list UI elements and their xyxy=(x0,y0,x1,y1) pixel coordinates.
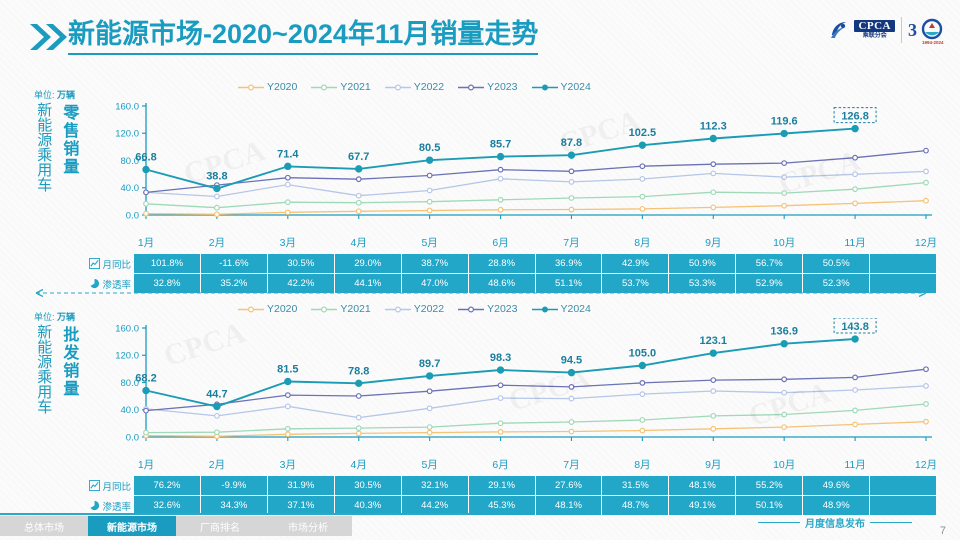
data-point-y2023 xyxy=(782,161,787,166)
table-cell: -9.9% xyxy=(201,476,268,495)
data-point-y2024 xyxy=(356,380,362,386)
cpca-logo-main: CPCA 乘联分会 xyxy=(828,19,895,41)
data-point-y2020 xyxy=(427,430,432,435)
data-point-y2023 xyxy=(356,394,361,399)
x-tick-label: 7月 xyxy=(563,235,579,250)
series-line-y2020 xyxy=(146,422,926,437)
table-cell: 32.1% xyxy=(402,476,469,495)
data-point-y2022 xyxy=(286,182,291,187)
x-tick-label: 4月 xyxy=(351,457,367,472)
legend-label: Y2021 xyxy=(340,303,370,315)
data-point-y2024 xyxy=(852,126,858,132)
legend-item-y2021[interactable]: Y2021 xyxy=(311,81,370,93)
data-label: 94.5 xyxy=(561,355,582,367)
table-cell: 101.8% xyxy=(134,254,201,273)
pie-chart-icon xyxy=(89,500,100,511)
cpca-sub-wordmark: 乘联分会 xyxy=(854,32,895,40)
data-point-y2024 xyxy=(143,166,149,172)
table-row: 月同比76.2%-9.9%31.9%30.5%32.1%29.1%27.6%31… xyxy=(88,476,936,495)
x-tick-label: 4月 xyxy=(351,235,367,250)
data-point-y2021 xyxy=(711,190,716,195)
y-tick-label: 40.0 xyxy=(121,183,140,194)
data-label: 143.8 xyxy=(841,321,869,333)
table-cell: 55.2% xyxy=(736,476,803,495)
data-point-y2023 xyxy=(498,167,503,172)
data-point-y2024 xyxy=(852,336,858,342)
cpca-wordmark: CPCA xyxy=(854,20,895,32)
data-point-y2020 xyxy=(924,198,929,203)
cpca-logo: CPCA 乘联分会 3 1994-2024 xyxy=(828,16,948,44)
data-label: 119.6 xyxy=(771,116,798,128)
table-cell: 76.2% xyxy=(134,476,201,495)
data-point-y2021 xyxy=(924,180,929,185)
x-tick-label: 8月 xyxy=(634,235,650,250)
data-point-y2021 xyxy=(569,196,574,201)
x-tick-label: 3月 xyxy=(280,235,296,250)
x-tick-label: 10月 xyxy=(773,235,795,250)
data-point-y2022 xyxy=(640,177,645,182)
data-point-y2024 xyxy=(639,142,645,148)
data-point-y2021 xyxy=(640,194,645,199)
table-cell xyxy=(870,254,936,273)
data-point-y2024 xyxy=(214,185,220,191)
legend-swatch-y2024 xyxy=(532,83,558,92)
x-tick-label: 11月 xyxy=(844,457,865,472)
chart-plot-retail: CPCA CPCA CPCA 0.040.080.0120.0160.066.8… xyxy=(88,96,936,233)
data-point-y2022 xyxy=(711,171,716,176)
chart-plot-wholesale: CPCA CPCA CPCA 0.040.080.0120.0160.068.2… xyxy=(88,318,936,455)
unit-label-retail: 单位: 万辆 xyxy=(34,88,75,101)
data-point-y2023 xyxy=(782,377,787,382)
data-point-y2021 xyxy=(144,430,149,435)
legend-item-y2023[interactable]: Y2023 xyxy=(458,81,517,93)
footer-brand-dash-left xyxy=(758,522,800,523)
data-point-y2020 xyxy=(356,209,361,214)
data-point-y2020 xyxy=(640,207,645,212)
data-label: 98.3 xyxy=(490,352,511,364)
unit-label-wholesale: 单位: 万辆 xyxy=(34,310,75,323)
slide-footer: 总体市场新能源市场厂商排名市场分析 月度信息发布 7 xyxy=(0,513,960,540)
data-label: 67.7 xyxy=(348,151,369,163)
table-row-label: 月同比 xyxy=(88,476,134,495)
data-point-y2022 xyxy=(640,392,645,397)
data-point-y2024 xyxy=(710,135,716,141)
y-tick-label: 160.0 xyxy=(115,323,139,334)
legend-label: Y2022 xyxy=(414,81,444,93)
page-title: 新能源市场-2020~2024年11月销量走势 xyxy=(68,17,538,55)
footer-tab-item[interactable]: 市场分析 xyxy=(264,516,352,536)
x-tick-label: 1月 xyxy=(138,235,154,250)
data-point-y2024 xyxy=(568,370,574,376)
data-point-y2022 xyxy=(215,194,220,199)
legend-swatch-y2021 xyxy=(311,83,337,92)
table-cell: -11.6% xyxy=(201,254,268,273)
y-tick-label: 120.0 xyxy=(115,351,139,362)
x-tick-label: 12月 xyxy=(915,235,937,250)
data-point-y2021 xyxy=(427,199,432,204)
y-tick-label: 0.0 xyxy=(126,432,139,443)
data-label: 102.5 xyxy=(629,127,657,139)
data-point-y2022 xyxy=(711,389,716,394)
data-label: 126.8 xyxy=(841,111,869,123)
data-point-y2023 xyxy=(144,408,149,413)
data-point-y2020 xyxy=(144,211,149,216)
data-label: 105.0 xyxy=(629,347,657,359)
data-point-y2022 xyxy=(924,169,929,174)
unit-value: 万辆 xyxy=(57,90,75,100)
data-point-y2024 xyxy=(214,403,220,409)
x-tick-label: 11月 xyxy=(844,235,865,250)
data-point-y2024 xyxy=(427,157,433,163)
series-line-y2021 xyxy=(146,183,926,208)
table-cell: 50.5% xyxy=(803,254,870,273)
data-point-y2021 xyxy=(215,430,220,435)
data-point-y2020 xyxy=(924,419,929,424)
chart-legend-wholesale: Y2020Y2021Y2022Y2023Y2024 xyxy=(238,302,758,316)
footer-brand-text: 月度信息发布 xyxy=(805,515,865,530)
data-point-y2024 xyxy=(639,362,645,368)
data-point-y2021 xyxy=(356,200,361,205)
data-label: 112.3 xyxy=(700,120,727,132)
legend-label: Y2022 xyxy=(414,303,444,315)
data-point-y2021 xyxy=(144,201,149,206)
data-point-y2021 xyxy=(853,187,858,192)
table-cell: 29.1% xyxy=(469,476,536,495)
data-point-y2020 xyxy=(711,205,716,210)
legend-item-y2024[interactable]: Y2024 xyxy=(532,303,591,315)
data-point-y2023 xyxy=(711,378,716,383)
double-chevron-icon xyxy=(28,22,68,52)
data-label: 123.1 xyxy=(700,335,728,347)
table-cell: 27.6% xyxy=(536,476,603,495)
data-point-y2023 xyxy=(569,169,574,174)
data-point-y2022 xyxy=(286,404,291,409)
table-cell: 30.5% xyxy=(268,254,335,273)
legend-item-y2023[interactable]: Y2023 xyxy=(458,303,517,315)
data-label: 71.4 xyxy=(277,148,299,160)
legend-label: Y2023 xyxy=(487,303,517,315)
data-point-y2022 xyxy=(356,415,361,420)
table-cells: 76.2%-9.9%31.9%30.5%32.1%29.1%27.6%31.5%… xyxy=(134,476,936,495)
legend-swatch-y2023 xyxy=(458,305,484,314)
data-point-y2022 xyxy=(569,180,574,185)
data-point-y2021 xyxy=(853,408,858,413)
table-cell: 48.1% xyxy=(669,476,736,495)
data-point-y2021 xyxy=(711,414,716,419)
data-point-y2020 xyxy=(356,431,361,436)
data-point-y2020 xyxy=(215,212,220,217)
anniversary-years: 1994-2024 xyxy=(922,40,944,45)
data-point-y2021 xyxy=(286,427,291,432)
table-cell: 42.9% xyxy=(602,254,669,273)
data-point-y2020 xyxy=(711,427,716,432)
data-point-y2021 xyxy=(640,418,645,423)
data-label: 136.9 xyxy=(770,326,798,338)
y-tick-label: 0.0 xyxy=(126,210,139,221)
data-point-y2023 xyxy=(924,148,929,153)
series-line-y2022 xyxy=(146,171,926,196)
data-point-y2021 xyxy=(427,425,432,430)
data-point-y2022 xyxy=(427,406,432,411)
x-tick-label: 1月 xyxy=(138,457,154,472)
legend-item-y2022[interactable]: Y2022 xyxy=(385,303,444,315)
data-point-y2020 xyxy=(853,422,858,427)
table-cell: 28.8% xyxy=(469,254,536,273)
data-point-y2023 xyxy=(356,177,361,182)
data-point-y2021 xyxy=(498,421,503,426)
data-label: 68.2 xyxy=(135,373,156,385)
legend-swatch-y2020 xyxy=(238,305,264,314)
data-point-y2024 xyxy=(285,163,291,169)
legend-label: Y2020 xyxy=(267,303,297,315)
data-label: 38.8 xyxy=(206,171,227,183)
table-row: 月同比101.8%-11.6%30.5%29.0%38.7%28.8%36.9%… xyxy=(88,254,936,273)
slide-header: 新能源市场-2020~2024年11月销量走势 CPCA 乘联分会 3 1994… xyxy=(0,0,960,68)
table-cell: 50.9% xyxy=(669,254,736,273)
x-tick-label: 9月 xyxy=(705,457,721,472)
data-point-y2020 xyxy=(427,208,432,213)
legend-swatch-y2020 xyxy=(238,83,264,92)
data-label: 89.7 xyxy=(419,358,440,370)
legend-swatch-y2021 xyxy=(311,305,337,314)
category-label-retail: 新能源乘用车 xyxy=(36,102,51,192)
legend-swatch-y2022 xyxy=(385,305,411,314)
line-chart-icon xyxy=(89,480,100,491)
chart-svg-wholesale: 0.040.080.0120.0160.068.244.781.578.889.… xyxy=(88,318,936,455)
x-tick-label: 5月 xyxy=(421,457,437,472)
data-label: 87.8 xyxy=(561,137,582,149)
y-tick-label: 160.0 xyxy=(115,101,139,112)
data-point-y2020 xyxy=(569,207,574,212)
legend-label: Y2024 xyxy=(561,81,591,93)
table-cells: 101.8%-11.6%30.5%29.0%38.7%28.8%36.9%42.… xyxy=(134,254,936,273)
x-tick-label: 6月 xyxy=(492,457,508,472)
series-line-y2020 xyxy=(146,201,926,215)
table-cell: 30.5% xyxy=(335,476,402,495)
table-cell xyxy=(870,476,936,495)
data-point-y2020 xyxy=(498,430,503,435)
legend-item-y2020[interactable]: Y2020 xyxy=(238,303,297,315)
data-point-y2020 xyxy=(286,210,291,215)
data-point-y2022 xyxy=(569,396,574,401)
x-tick-label: 12月 xyxy=(915,457,937,472)
data-point-y2021 xyxy=(924,402,929,407)
data-point-y2022 xyxy=(782,390,787,395)
data-point-y2021 xyxy=(356,426,361,431)
table-cell: 49.6% xyxy=(803,476,870,495)
data-point-y2022 xyxy=(215,414,220,419)
data-point-y2020 xyxy=(782,203,787,208)
legend-swatch-y2022 xyxy=(385,83,411,92)
unit-prefix: 单位: xyxy=(34,312,55,322)
footer-tabs: 总体市场新能源市场厂商排名市场分析 xyxy=(0,516,352,536)
data-point-y2024 xyxy=(285,378,291,384)
legend-item-y2024[interactable]: Y2024 xyxy=(532,81,591,93)
data-point-y2024 xyxy=(781,130,787,136)
data-point-y2024 xyxy=(143,387,149,393)
y-tick-label: 40.0 xyxy=(121,405,140,416)
table-cell: 31.5% xyxy=(602,476,669,495)
data-point-y2022 xyxy=(356,193,361,198)
data-label: 44.7 xyxy=(206,389,227,401)
x-tick-label: 2月 xyxy=(209,235,225,250)
data-point-y2023 xyxy=(853,375,858,380)
table-cell: 36.9% xyxy=(536,254,603,273)
legend-label: Y2020 xyxy=(267,81,297,93)
data-label: 66.8 xyxy=(135,151,156,163)
data-point-y2020 xyxy=(782,425,787,430)
data-point-y2021 xyxy=(286,200,291,205)
series-line-y2023 xyxy=(146,151,926,193)
cpca-emblem-icon xyxy=(828,19,850,41)
data-point-y2023 xyxy=(427,389,432,394)
data-point-y2021 xyxy=(215,205,220,210)
data-point-y2024 xyxy=(710,350,716,356)
legend-label: Y2024 xyxy=(561,303,591,315)
x-tick-label: 9月 xyxy=(705,235,721,250)
footer-rule xyxy=(0,513,470,515)
footer-brand-dash-right xyxy=(870,522,912,523)
legend-label: Y2021 xyxy=(340,81,370,93)
data-point-y2021 xyxy=(498,198,503,203)
data-point-y2024 xyxy=(781,341,787,347)
data-point-y2020 xyxy=(286,432,291,437)
data-point-y2023 xyxy=(498,383,503,388)
legend-item-y2022[interactable]: Y2022 xyxy=(385,81,444,93)
data-point-y2022 xyxy=(924,384,929,389)
table-row-label-text: 月同比 xyxy=(102,257,131,271)
data-point-y2024 xyxy=(497,367,503,373)
y-tick-label: 120.0 xyxy=(115,129,139,140)
data-point-y2023 xyxy=(286,393,291,398)
data-point-y2023 xyxy=(924,367,929,372)
x-tick-label: 2月 xyxy=(209,457,225,472)
table-row-label-text: 渗透率 xyxy=(102,499,131,513)
data-label: 80.5 xyxy=(419,142,440,154)
data-point-y2022 xyxy=(427,188,432,193)
data-point-y2021 xyxy=(782,412,787,417)
data-point-y2023 xyxy=(569,385,574,390)
data-point-y2023 xyxy=(144,190,149,195)
data-point-y2020 xyxy=(569,429,574,434)
data-point-y2024 xyxy=(497,154,503,160)
data-point-y2020 xyxy=(498,208,503,213)
data-point-y2023 xyxy=(286,175,291,180)
data-point-y2023 xyxy=(640,164,645,169)
metric-label-retail: 零售销量 xyxy=(60,104,76,176)
unit-prefix: 单位: xyxy=(34,90,55,100)
data-point-y2024 xyxy=(427,373,433,379)
x-tick-label: 8月 xyxy=(634,457,650,472)
series-line-y2021 xyxy=(146,404,926,433)
footer-tab-item[interactable]: 总体市场 xyxy=(0,516,88,536)
anniversary-badge: 3 1994-2024 xyxy=(908,16,948,44)
table-row-label: 月同比 xyxy=(88,254,134,273)
data-point-y2024 xyxy=(356,166,362,172)
data-label: 78.8 xyxy=(348,365,369,377)
chart-legend-retail: Y2020Y2021Y2022Y2023Y2024 xyxy=(238,80,758,94)
data-label: 81.5 xyxy=(277,363,298,375)
data-point-y2023 xyxy=(711,162,716,167)
table-cell: 56.7% xyxy=(736,254,803,273)
logo-divider xyxy=(901,17,902,43)
data-point-y2022 xyxy=(853,388,858,393)
footer-tab-active[interactable]: 新能源市场 xyxy=(88,516,176,536)
table-cell: 29.0% xyxy=(335,254,402,273)
data-point-y2023 xyxy=(427,173,432,178)
table-cell: 38.7% xyxy=(402,254,469,273)
data-point-y2021 xyxy=(782,191,787,196)
data-point-y2023 xyxy=(640,381,645,386)
svg-text:3: 3 xyxy=(908,20,917,40)
data-point-y2022 xyxy=(498,396,503,401)
range-arrow-retail xyxy=(26,288,936,298)
page-title-wrap: 新能源市场-2020~2024年11月销量走势 xyxy=(68,17,538,55)
data-point-y2022 xyxy=(853,172,858,177)
page-number: 7 xyxy=(940,525,946,537)
data-point-y2020 xyxy=(640,428,645,433)
legend-swatch-y2023 xyxy=(458,83,484,92)
metric-label-wholesale: 批发销量 xyxy=(60,326,76,398)
data-point-y2022 xyxy=(498,176,503,181)
data-point-y2024 xyxy=(568,152,574,158)
table-row-label-text: 月同比 xyxy=(102,479,131,493)
x-tick-label: 5月 xyxy=(421,235,437,250)
x-tick-label: 3月 xyxy=(280,457,296,472)
legend-label: Y2023 xyxy=(487,81,517,93)
data-table-wholesale: 月同比76.2%-9.9%31.9%30.5%32.1%29.1%27.6%31… xyxy=(88,476,936,516)
x-tick-label: 10月 xyxy=(773,457,795,472)
chart-retail: Y2020Y2021Y2022Y2023Y2024 CPCA CPCA CPCA… xyxy=(88,78,936,233)
footer-tab-item[interactable]: 厂商排名 xyxy=(176,516,264,536)
x-tick-label: 7月 xyxy=(563,457,579,472)
line-chart-icon xyxy=(89,258,100,269)
category-label-wholesale: 新能源乘用车 xyxy=(36,324,51,414)
legend-item-y2020[interactable]: Y2020 xyxy=(238,81,297,93)
footer-brand: 月度信息发布 xyxy=(758,515,912,530)
data-point-y2023 xyxy=(853,155,858,160)
data-point-y2021 xyxy=(569,420,574,425)
data-point-y2022 xyxy=(782,175,787,180)
chart-wholesale: Y2020Y2021Y2022Y2023Y2024 CPCA CPCA CPCA… xyxy=(88,300,936,455)
data-point-y2020 xyxy=(853,201,858,206)
chart-svg-retail: 0.040.080.0120.0160.066.838.871.467.780.… xyxy=(88,96,936,233)
chart-x-axis-wholesale: 1月2月3月4月5月6月7月8月9月10月11月12月 xyxy=(88,457,936,473)
legend-swatch-y2024 xyxy=(532,305,558,314)
legend-item-y2021[interactable]: Y2021 xyxy=(311,303,370,315)
x-tick-label: 6月 xyxy=(492,235,508,250)
chart-x-axis-retail: 1月2月3月4月5月6月7月8月9月10月11月12月 xyxy=(88,235,936,251)
data-label: 85.7 xyxy=(490,139,511,151)
unit-value: 万辆 xyxy=(57,312,75,322)
table-cell: 31.9% xyxy=(268,476,335,495)
